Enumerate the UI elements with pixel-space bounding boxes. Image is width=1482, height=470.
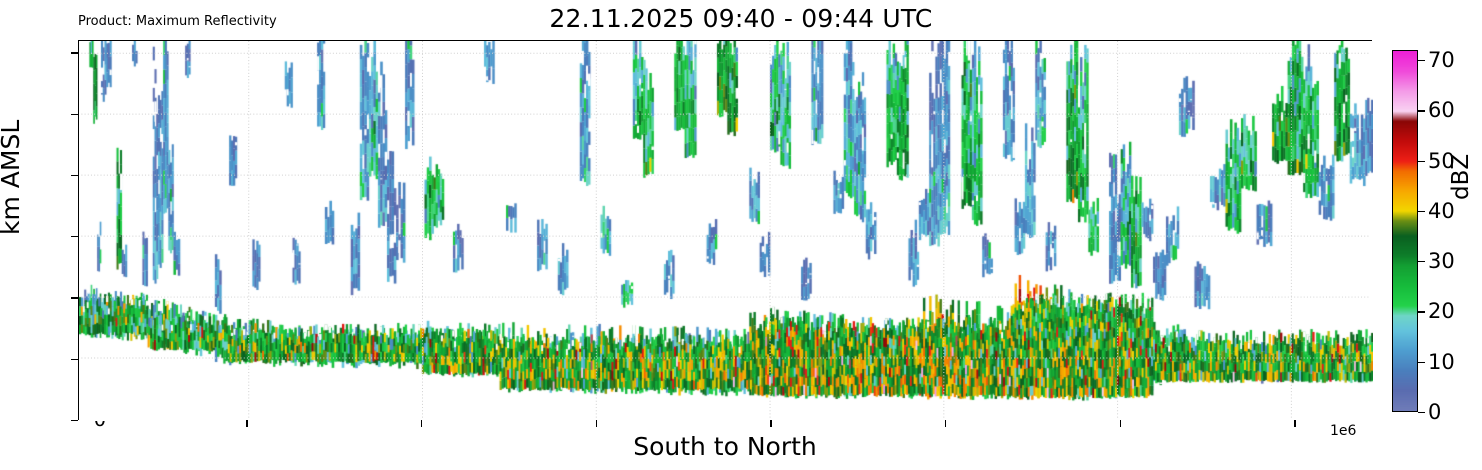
y-axis-label: km AMSL <box>0 120 25 235</box>
colorbar-tick-mark <box>1418 311 1425 312</box>
y-tick-mark <box>71 297 78 298</box>
x-tick-mark <box>770 420 771 427</box>
colorbar-tick-mark <box>1418 211 1425 212</box>
colorbar-tick-label: 20 <box>1428 299 1455 323</box>
colorbar-tick-mark <box>1418 261 1425 262</box>
x-tick-mark <box>421 420 422 427</box>
y-tick-mark <box>71 114 78 115</box>
colorbar-tick-label: 40 <box>1428 199 1455 223</box>
colorbar-tick-mark <box>1418 110 1425 111</box>
colorbar-tick-label: 70 <box>1428 48 1455 72</box>
colorbar[interactable] <box>1392 50 1418 412</box>
radar-cross-section-figure: 22.11.2025 09:40 - 09:44 UTC Product: Ma… <box>0 0 1482 470</box>
x-tick-mark <box>945 420 946 427</box>
colorbar-tick-mark <box>1418 412 1425 413</box>
x-axis-label: South to North <box>78 432 1372 461</box>
colorbar-title: dBZ <box>1448 154 1474 200</box>
x-axis-offset-text: 1e6 <box>1330 423 1356 439</box>
y-tick-mark <box>71 359 78 360</box>
colorbar-tick-mark <box>1418 60 1425 61</box>
colorbar-tick-label: 30 <box>1428 249 1455 273</box>
y-tick-mark <box>71 175 78 176</box>
colorbar-tick-mark <box>1418 362 1425 363</box>
colorbar-tick-label: 0 <box>1428 400 1441 424</box>
colorbar-tick-label: 10 <box>1428 350 1455 374</box>
colorbar-gradient[interactable] <box>1392 50 1418 412</box>
reflectivity-heatmap-canvas[interactable] <box>79 41 1373 421</box>
y-tick-mark <box>71 236 78 237</box>
x-tick-mark <box>246 420 247 427</box>
y-tick-mark <box>71 420 78 421</box>
plot-area[interactable] <box>78 40 1372 420</box>
y-tick-mark <box>71 52 78 53</box>
colorbar-tick-mark <box>1418 161 1425 162</box>
x-tick-mark <box>1294 420 1295 427</box>
colorbar-tick-label: 60 <box>1428 98 1455 122</box>
product-label: Product: Maximum Reflectivity <box>78 14 277 29</box>
x-tick-mark <box>1120 420 1121 427</box>
x-tick-mark <box>596 420 597 427</box>
